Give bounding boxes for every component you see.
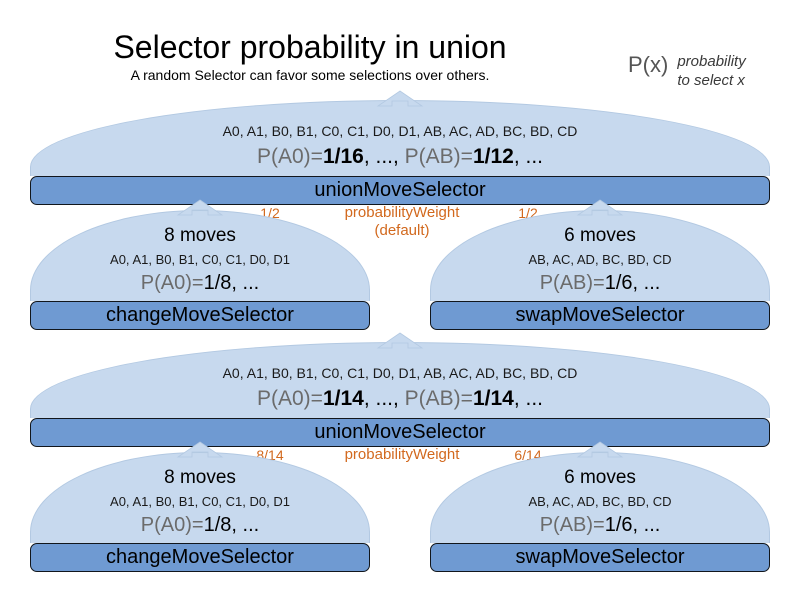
change-moves-count: 8 moves <box>31 467 369 489</box>
union-prob-separator: , ..., <box>364 387 405 410</box>
swap-output-arrow-icon <box>578 442 622 457</box>
union-probabilities: P(A0)=1/14, ..., P(AB)=1/14, ... <box>31 386 769 411</box>
swap-move-selector-node: 6 moves AB, AC, AD, BC, BD, CD P(AB)=1/6… <box>430 452 770 569</box>
page-subtitle: A random Selector can favor some selecti… <box>0 66 620 84</box>
diagram-explicit-weights: A0, A1, B0, B1, C0, C1, D0, D1, AB, AC, … <box>0 332 800 584</box>
swap-moves-count: 6 moves <box>431 467 769 489</box>
union-prob-tail: , ... <box>514 145 543 168</box>
diagram-default-weights: A0, A1, B0, B1, C0, C1, D0, D1, AB, AC, … <box>0 92 800 332</box>
change-output-arrow-icon <box>178 200 222 215</box>
legend: P(x) probability to select x <box>628 52 746 90</box>
union-prob-separator: , ..., <box>364 145 405 168</box>
union-prob-prefix-1: P(A0)= <box>257 387 323 410</box>
change-move-selector-dome: 8 moves A0, A1, B0, B1, C0, C1, D0, D1 P… <box>30 210 370 301</box>
union-prob-prefix-1: P(A0)= <box>257 145 323 168</box>
union-probabilities: P(A0)=1/16, ..., P(AB)=1/12, ... <box>31 144 769 169</box>
change-move-selector-node: 8 moves A0, A1, B0, B1, C0, C1, D0, D1 P… <box>30 210 370 327</box>
change-move-selector-bar[interactable]: changeMoveSelector <box>30 543 370 572</box>
swap-move-selector-dome: 6 moves AB, AC, AD, BC, BD, CD P(AB)=1/6… <box>430 452 770 543</box>
swap-probability: P(AB)=1/6, ... <box>431 271 769 295</box>
union-dome: A0, A1, B0, B1, C0, C1, D0, D1, AB, AC, … <box>30 100 770 176</box>
swap-probability: P(AB)=1/6, ... <box>431 513 769 537</box>
page-title: Selector probability in union <box>0 28 620 66</box>
change-probability: P(A0)=1/8, ... <box>31 513 369 537</box>
legend-description-line1: probability <box>677 52 745 71</box>
swap-move-selector-bar[interactable]: swapMoveSelector <box>430 543 770 572</box>
change-move-selector-node: 8 moves A0, A1, B0, B1, C0, C1, D0, D1 P… <box>30 452 370 569</box>
union-node: A0, A1, B0, B1, C0, C1, D0, D1, AB, AC, … <box>30 100 770 198</box>
change-move-list: A0, A1, B0, B1, C0, C1, D0, D1 <box>31 252 369 268</box>
change-move-selector-dome: 8 moves A0, A1, B0, B1, C0, C1, D0, D1 P… <box>30 452 370 543</box>
swap-prob-prefix: P(AB)= <box>540 272 605 294</box>
change-move-selector-bar[interactable]: changeMoveSelector <box>30 301 370 330</box>
swap-move-list: AB, AC, AD, BC, BD, CD <box>431 252 769 268</box>
change-prob-prefix: P(A0)= <box>141 514 204 536</box>
union-prob-value-2: 1/14 <box>473 387 514 410</box>
change-prob-prefix: P(A0)= <box>141 272 204 294</box>
change-output-arrow-icon <box>178 442 222 457</box>
swap-moves-count: 6 moves <box>431 225 769 247</box>
union-prob-value-2: 1/12 <box>473 145 514 168</box>
header: Selector probability in union A random S… <box>0 0 800 100</box>
union-dome: A0, A1, B0, B1, C0, C1, D0, D1, AB, AC, … <box>30 342 770 418</box>
union-output-arrow-icon <box>378 333 422 348</box>
union-node: A0, A1, B0, B1, C0, C1, D0, D1, AB, AC, … <box>30 342 770 440</box>
swap-move-selector-dome: 6 moves AB, AC, AD, BC, BD, CD P(AB)=1/6… <box>430 210 770 301</box>
legend-description: probability to select x <box>677 52 745 90</box>
union-move-selector-bar[interactable]: unionMoveSelector <box>30 418 770 447</box>
legend-description-line2: to select x <box>677 71 745 90</box>
swap-output-arrow-icon <box>578 200 622 215</box>
swap-move-selector-node: 6 moves AB, AC, AD, BC, BD, CD P(AB)=1/6… <box>430 210 770 327</box>
swap-prob-prefix: P(AB)= <box>540 514 605 536</box>
union-prob-prefix-2: P(AB)= <box>405 145 473 168</box>
change-moves-count: 8 moves <box>31 225 369 247</box>
legend-key: P(x) <box>628 52 668 77</box>
union-move-list: A0, A1, B0, B1, C0, C1, D0, D1, AB, AC, … <box>31 365 769 382</box>
swap-move-list: AB, AC, AD, BC, BD, CD <box>431 494 769 510</box>
union-output-arrow-icon <box>378 91 422 106</box>
swap-prob-value: 1/6, ... <box>605 514 661 536</box>
change-move-list: A0, A1, B0, B1, C0, C1, D0, D1 <box>31 494 369 510</box>
union-move-list: A0, A1, B0, B1, C0, C1, D0, D1, AB, AC, … <box>31 123 769 140</box>
swap-move-selector-bar[interactable]: swapMoveSelector <box>430 301 770 330</box>
union-prob-value-1: 1/16 <box>323 145 364 168</box>
swap-prob-value: 1/6, ... <box>605 272 661 294</box>
union-prob-tail: , ... <box>514 387 543 410</box>
union-prob-value-1: 1/14 <box>323 387 364 410</box>
change-prob-value: 1/8, ... <box>204 514 260 536</box>
change-probability: P(A0)=1/8, ... <box>31 271 369 295</box>
change-prob-value: 1/8, ... <box>204 272 260 294</box>
union-prob-prefix-2: P(AB)= <box>405 387 473 410</box>
union-move-selector-bar[interactable]: unionMoveSelector <box>30 176 770 205</box>
